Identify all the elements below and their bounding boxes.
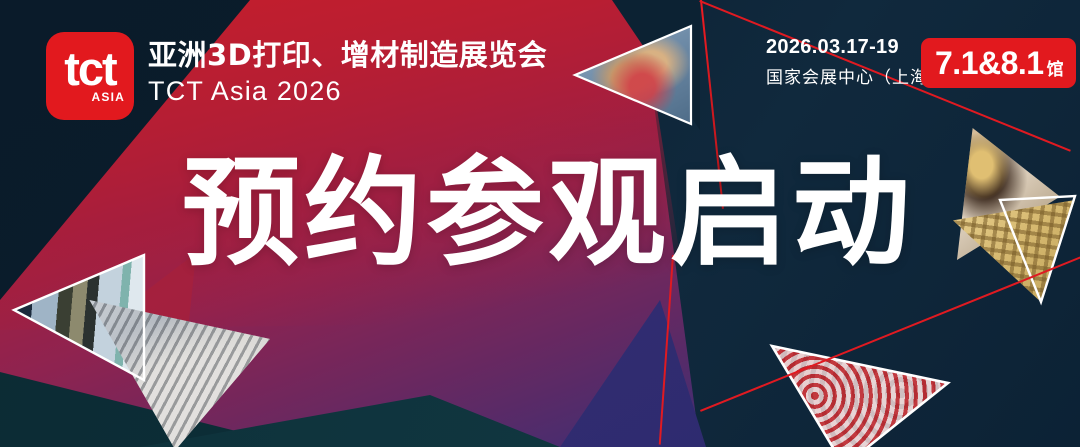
headline-text: 预约参观启动 <box>182 152 914 276</box>
hall-numbers: 7.1&8.1 <box>935 47 1044 79</box>
event-title-chinese: 亚洲3D打印、增材制造展览会 <box>148 38 547 72</box>
gold-lattice-print-image <box>953 200 1075 302</box>
organic-red-grey-print-image <box>768 336 948 447</box>
photo-tile-metal-lattice-part <box>55 300 270 447</box>
event-title-english: TCT Asia 2026 <box>148 76 547 107</box>
coral-bio-print-image <box>575 26 691 124</box>
event-date: 2026.03.17-19 <box>766 36 946 59</box>
hall-unit-label: 馆 <box>1047 55 1064 80</box>
photo-tile-coral-bio-print <box>575 26 691 124</box>
logo-region-label: ASIA <box>92 90 125 104</box>
tct-asia-logo[interactable]: tct ASIA <box>46 32 134 120</box>
logo-wordmark: tct <box>64 50 115 89</box>
event-info-block: 2026.03.17-19 国家会展中心（上海） <box>766 36 946 88</box>
header-title-group: 亚洲3D打印、增材制造展览会 TCT Asia 2026 <box>148 38 547 107</box>
hall-number-badge: 7.1&8.1 馆 <box>921 38 1076 88</box>
photo-tile-gold-lattice-print <box>953 200 1075 302</box>
promo-banner: tct ASIA 亚洲3D打印、增材制造展览会 TCT Asia 2026 20… <box>0 0 1080 447</box>
photo-tile-organic-red-grey-print <box>768 336 948 447</box>
event-venue: 国家会展中心（上海） <box>766 63 946 88</box>
metal-lattice-part-image <box>55 300 270 447</box>
